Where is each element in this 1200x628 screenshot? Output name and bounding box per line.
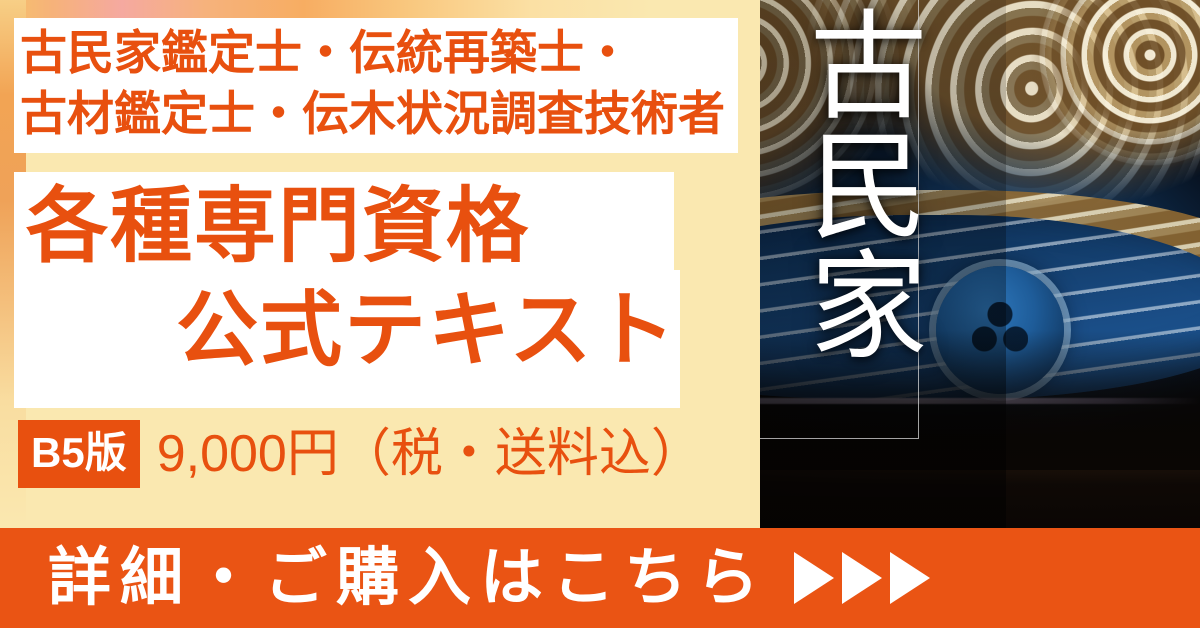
triangle-right-icon: [794, 552, 834, 604]
headline-line-1: 古民家鑑定士・伝統再築士・: [20, 22, 736, 83]
cta-arrow-group: [794, 552, 938, 604]
book-title-vertical: 古民家: [752, 4, 922, 364]
format-badge: B5版: [18, 420, 140, 488]
hero-line-2: 公式テキスト: [176, 290, 678, 372]
cta-bar[interactable]: 詳細・ご購入はこちら: [0, 528, 1200, 628]
price-row: B5版 9,000円（税・送料込）: [18, 420, 703, 488]
promo-banner: 伝統構法、古民家活用のための調査と再生の 古民家 古民家鑑定士・伝統再築士・ 古…: [0, 0, 1200, 628]
cta-label: 詳細・ご購入はこちら: [48, 547, 768, 610]
hero-line-1: 各種専門資格: [26, 186, 530, 268]
triangle-right-icon: [890, 552, 930, 604]
triangle-right-icon: [842, 552, 882, 604]
price-amount: 9,000円（税・送料込）: [157, 428, 703, 480]
headline-text: 古民家鑑定士・伝統再築士・ 古材鑑定士・伝木状況調査技術者: [20, 22, 736, 144]
headline-line-2: 古材鑑定士・伝木状況調査技術者: [20, 83, 736, 144]
